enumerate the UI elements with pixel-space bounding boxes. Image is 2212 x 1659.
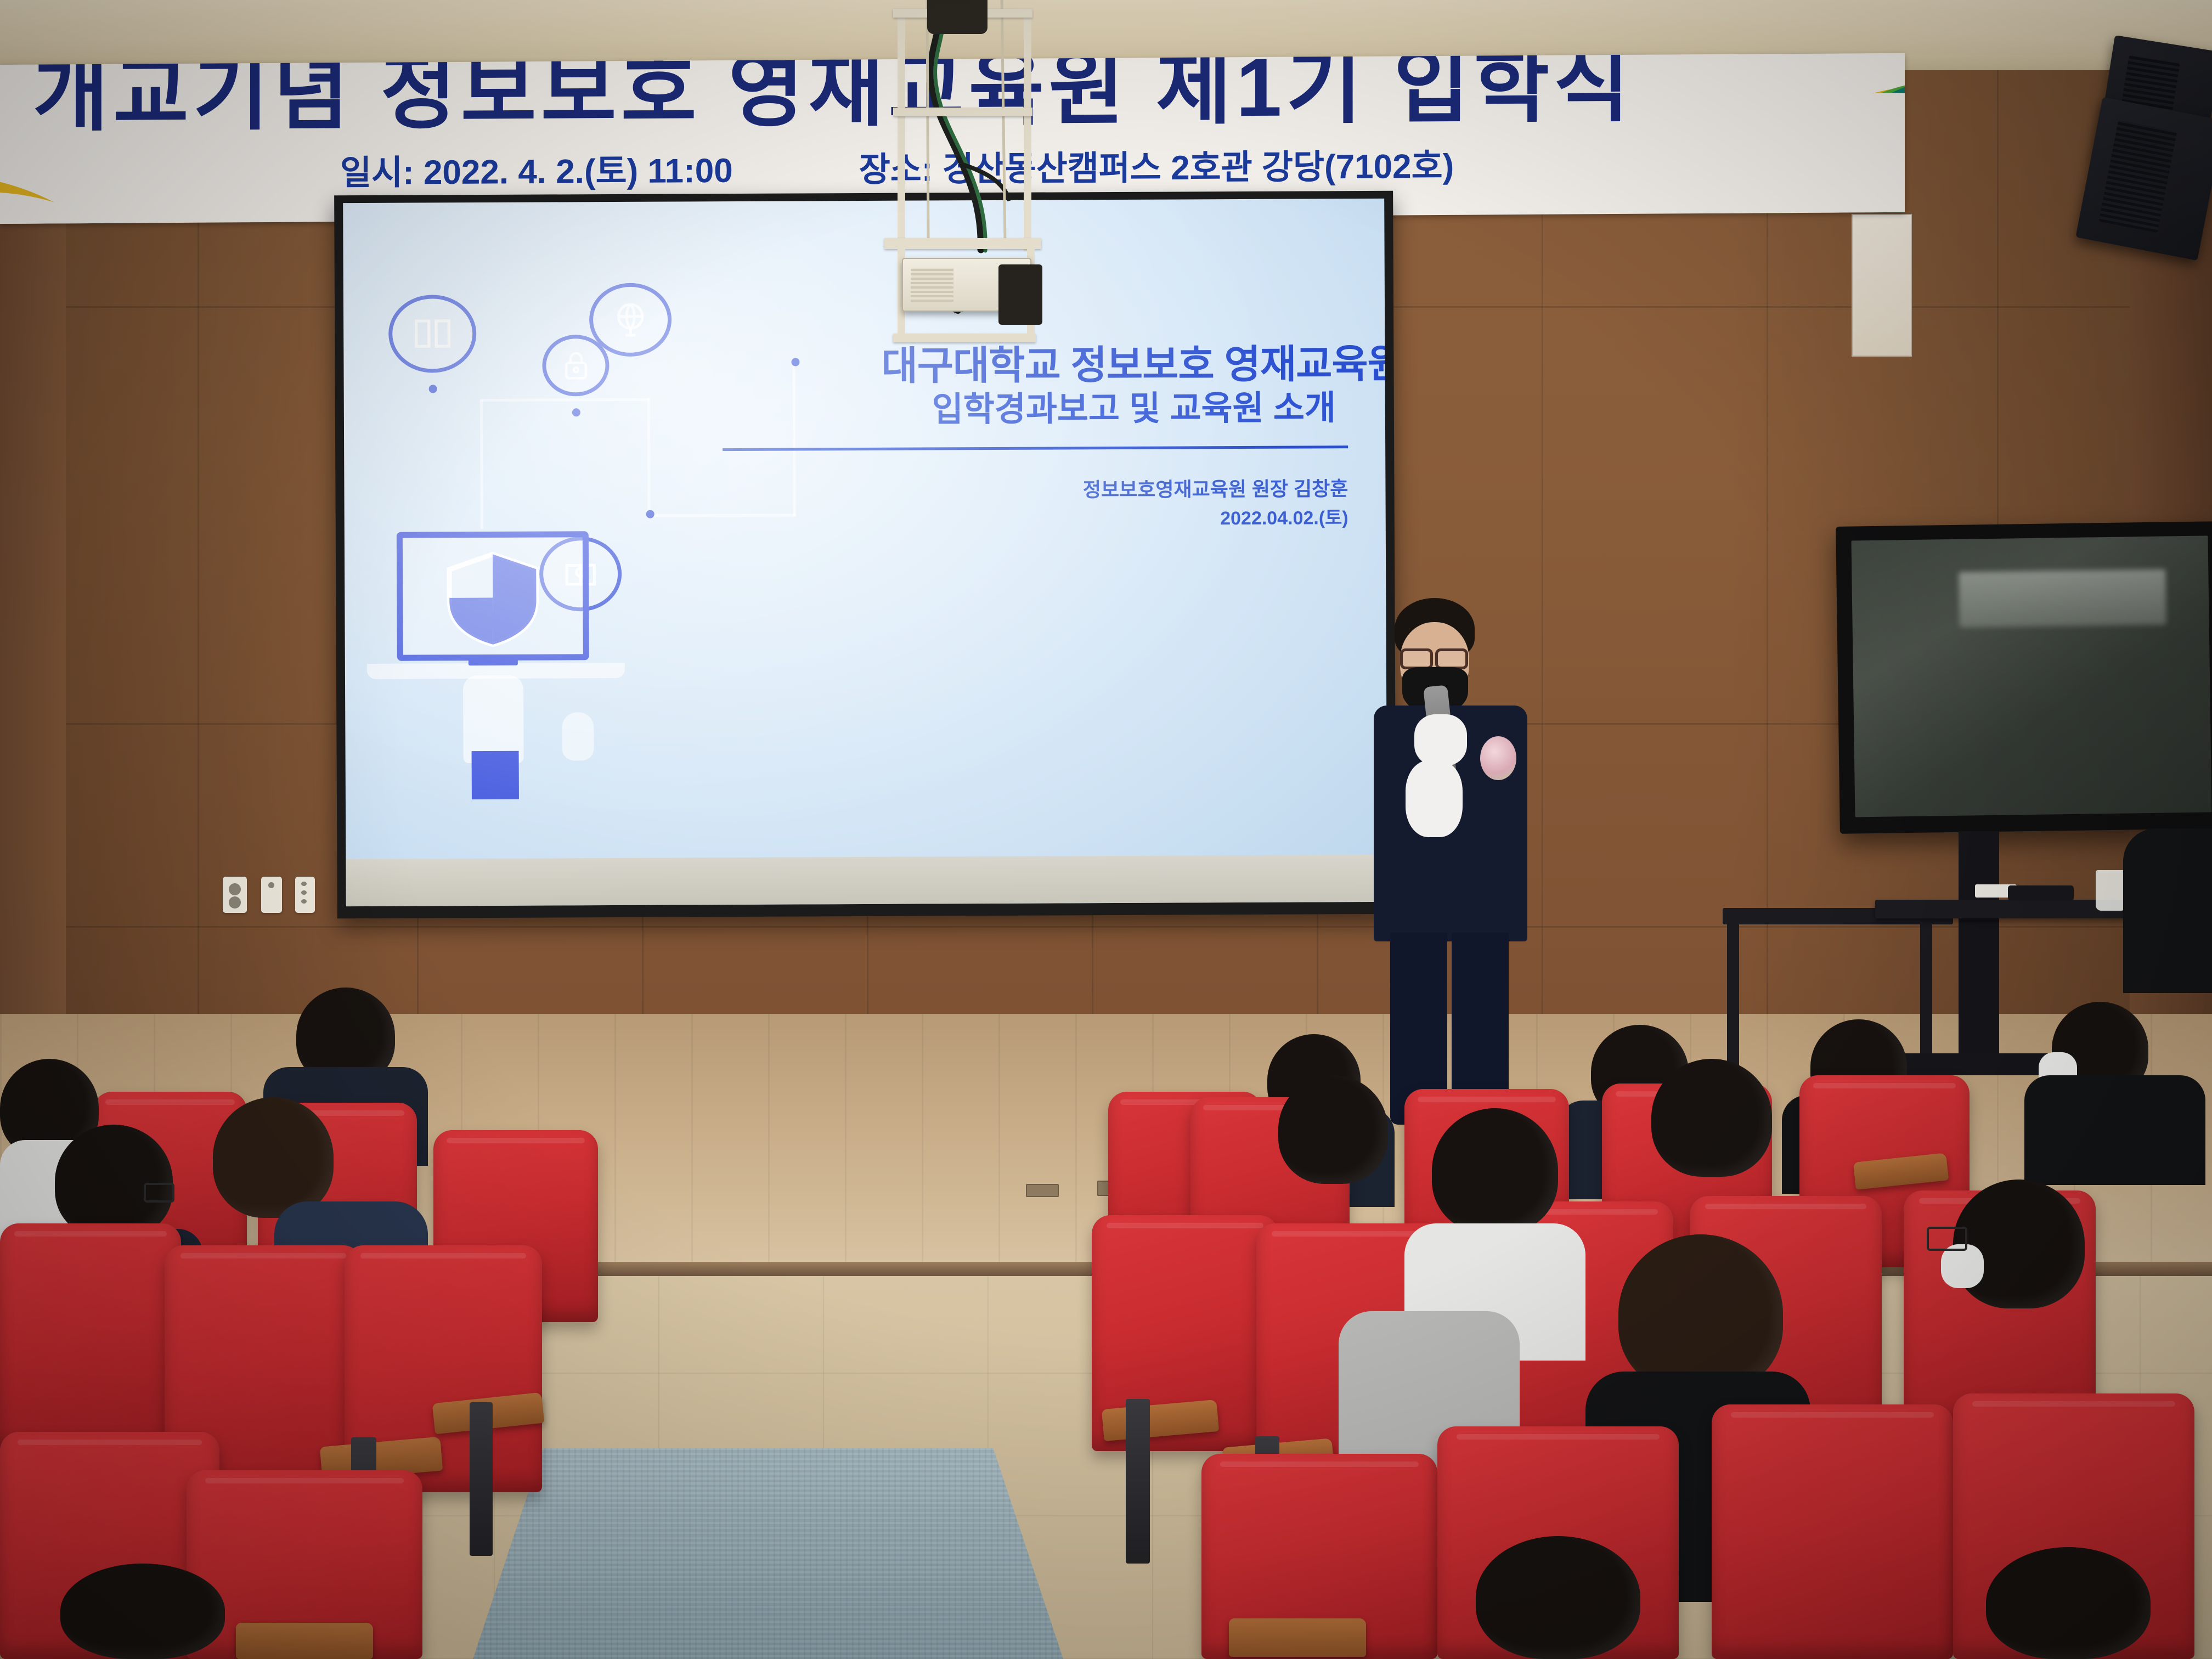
presenter-glasses-left bbox=[1400, 648, 1433, 669]
head-left-2 bbox=[55, 1125, 173, 1239]
computer-mouse-icon bbox=[562, 712, 594, 760]
seat-rowB-L1[interactable] bbox=[0, 1223, 181, 1454]
head-left-3 bbox=[213, 1097, 334, 1218]
rig-bar-lower bbox=[893, 334, 1036, 342]
gfx-connector-4 bbox=[648, 514, 796, 517]
ceiling-mount-block bbox=[927, 0, 988, 34]
presenter bbox=[1366, 598, 1553, 1125]
book-search-icon-dot bbox=[646, 510, 654, 518]
hand-cuff bbox=[472, 751, 519, 799]
rig-bar-mid bbox=[893, 108, 1032, 116]
display-stand-column bbox=[1959, 831, 1999, 1067]
display-reflection bbox=[1959, 569, 2166, 628]
gfx-connector-3 bbox=[647, 398, 651, 516]
head-right-5 bbox=[1953, 1180, 2085, 1308]
head-right-2 bbox=[1432, 1108, 1558, 1233]
person-right-torso bbox=[2123, 828, 2212, 993]
rig-post-left bbox=[898, 10, 905, 251]
screen-bottom-strip bbox=[346, 855, 1387, 906]
outlet-hole-lower bbox=[229, 896, 241, 909]
banner-detail-lines: 일시: 2022. 4. 2.(토) 11:00 장소: 경산동산캠퍼스 2호관… bbox=[340, 136, 1821, 194]
gfx-connector-5 bbox=[792, 366, 795, 517]
mask-right-5 bbox=[1941, 1244, 1984, 1288]
head-right-3 bbox=[1651, 1059, 1772, 1177]
glasses-right-5 bbox=[1927, 1227, 1967, 1251]
projector-vent bbox=[911, 268, 953, 302]
head-front-1 bbox=[1476, 1536, 1640, 1659]
seat-post-rowB-L2 bbox=[470, 1402, 493, 1556]
projector-cables bbox=[845, 0, 1075, 384]
laptop-icon bbox=[397, 531, 589, 661]
display-panel bbox=[1851, 535, 2211, 817]
gfx-connector-2 bbox=[480, 398, 650, 402]
projector-cable-plug bbox=[998, 264, 1042, 325]
rig-post-right bbox=[1024, 10, 1031, 251]
ceiling-projector-rig bbox=[845, 0, 1075, 384]
side-table-leg-left bbox=[1727, 924, 1739, 1084]
connector-port-2 bbox=[301, 890, 307, 895]
head-front-2 bbox=[1986, 1547, 2151, 1659]
shoulders-row1-e bbox=[2024, 1075, 2205, 1185]
head-right-4 bbox=[1618, 1234, 1783, 1393]
presenter-glasses-right bbox=[1435, 648, 1468, 669]
pointing-hand-icon bbox=[463, 675, 524, 763]
connector-port-3 bbox=[301, 899, 307, 904]
wall-alcove bbox=[1852, 214, 1912, 357]
connector-wall-plate[interactable] bbox=[295, 877, 315, 913]
connector-port-1 bbox=[301, 882, 307, 886]
head-right-1 bbox=[1278, 1075, 1388, 1184]
banner-date-line: 일시: 2022. 4. 2.(토) 11:00 bbox=[340, 143, 733, 194]
presenter-glove-lower bbox=[1406, 760, 1463, 837]
globe-icon-circle bbox=[589, 283, 672, 357]
book-icon-dot bbox=[429, 385, 437, 393]
presenter-glove-upper bbox=[1414, 714, 1467, 766]
globe-icon-dot bbox=[791, 358, 799, 366]
glasses-left-2 bbox=[144, 1183, 174, 1203]
padlock-icon bbox=[557, 349, 594, 382]
slide-presenter: 정보보호영재교육원 원장 김창훈 bbox=[805, 473, 1348, 504]
projector-body bbox=[902, 258, 1031, 312]
laptop-notch bbox=[469, 657, 518, 665]
seat-post-rowB-R1 bbox=[1126, 1399, 1150, 1564]
slide-subtitle: 입학경과보고 및 교육원 소개 bbox=[909, 380, 1359, 431]
stage-floor-box-2 bbox=[1026, 1184, 1059, 1197]
book-icon bbox=[408, 312, 458, 356]
slide-date: 2022.04.02.(토) bbox=[805, 503, 1348, 532]
globe-icon bbox=[607, 299, 654, 340]
book-icon-circle bbox=[388, 295, 477, 373]
rig-bar-bottom bbox=[884, 238, 1041, 249]
paper-cup[interactable] bbox=[2096, 870, 2126, 911]
shield-icon bbox=[403, 537, 583, 654]
plate-indicator bbox=[268, 882, 274, 888]
remote-control[interactable] bbox=[2008, 885, 2074, 901]
outlet-hole-upper bbox=[229, 883, 241, 895]
blank-wall-plate[interactable] bbox=[261, 877, 282, 913]
presenter-boutonniere bbox=[1480, 736, 1516, 780]
aisle-runner-carpet bbox=[472, 1448, 1064, 1659]
auditorium-photo-scene: 개교기념 정보보호 영재교육원 제1기 입학식 일시: 2022. 4. 2.(… bbox=[0, 0, 2212, 1659]
gfx-connector-1 bbox=[480, 400, 483, 529]
flat-panel-display[interactable] bbox=[1836, 521, 2212, 834]
head-front-3 bbox=[60, 1564, 225, 1659]
speaker-grill bbox=[2099, 120, 2177, 232]
armrest-rowC-R1 bbox=[1229, 1618, 1366, 1657]
armrest-rowC-L1 bbox=[236, 1623, 373, 1659]
padlock-icon-dot bbox=[572, 408, 580, 416]
seat-rowC-R3[interactable] bbox=[1712, 1404, 1953, 1659]
power-outlet-plate[interactable] bbox=[223, 877, 247, 913]
